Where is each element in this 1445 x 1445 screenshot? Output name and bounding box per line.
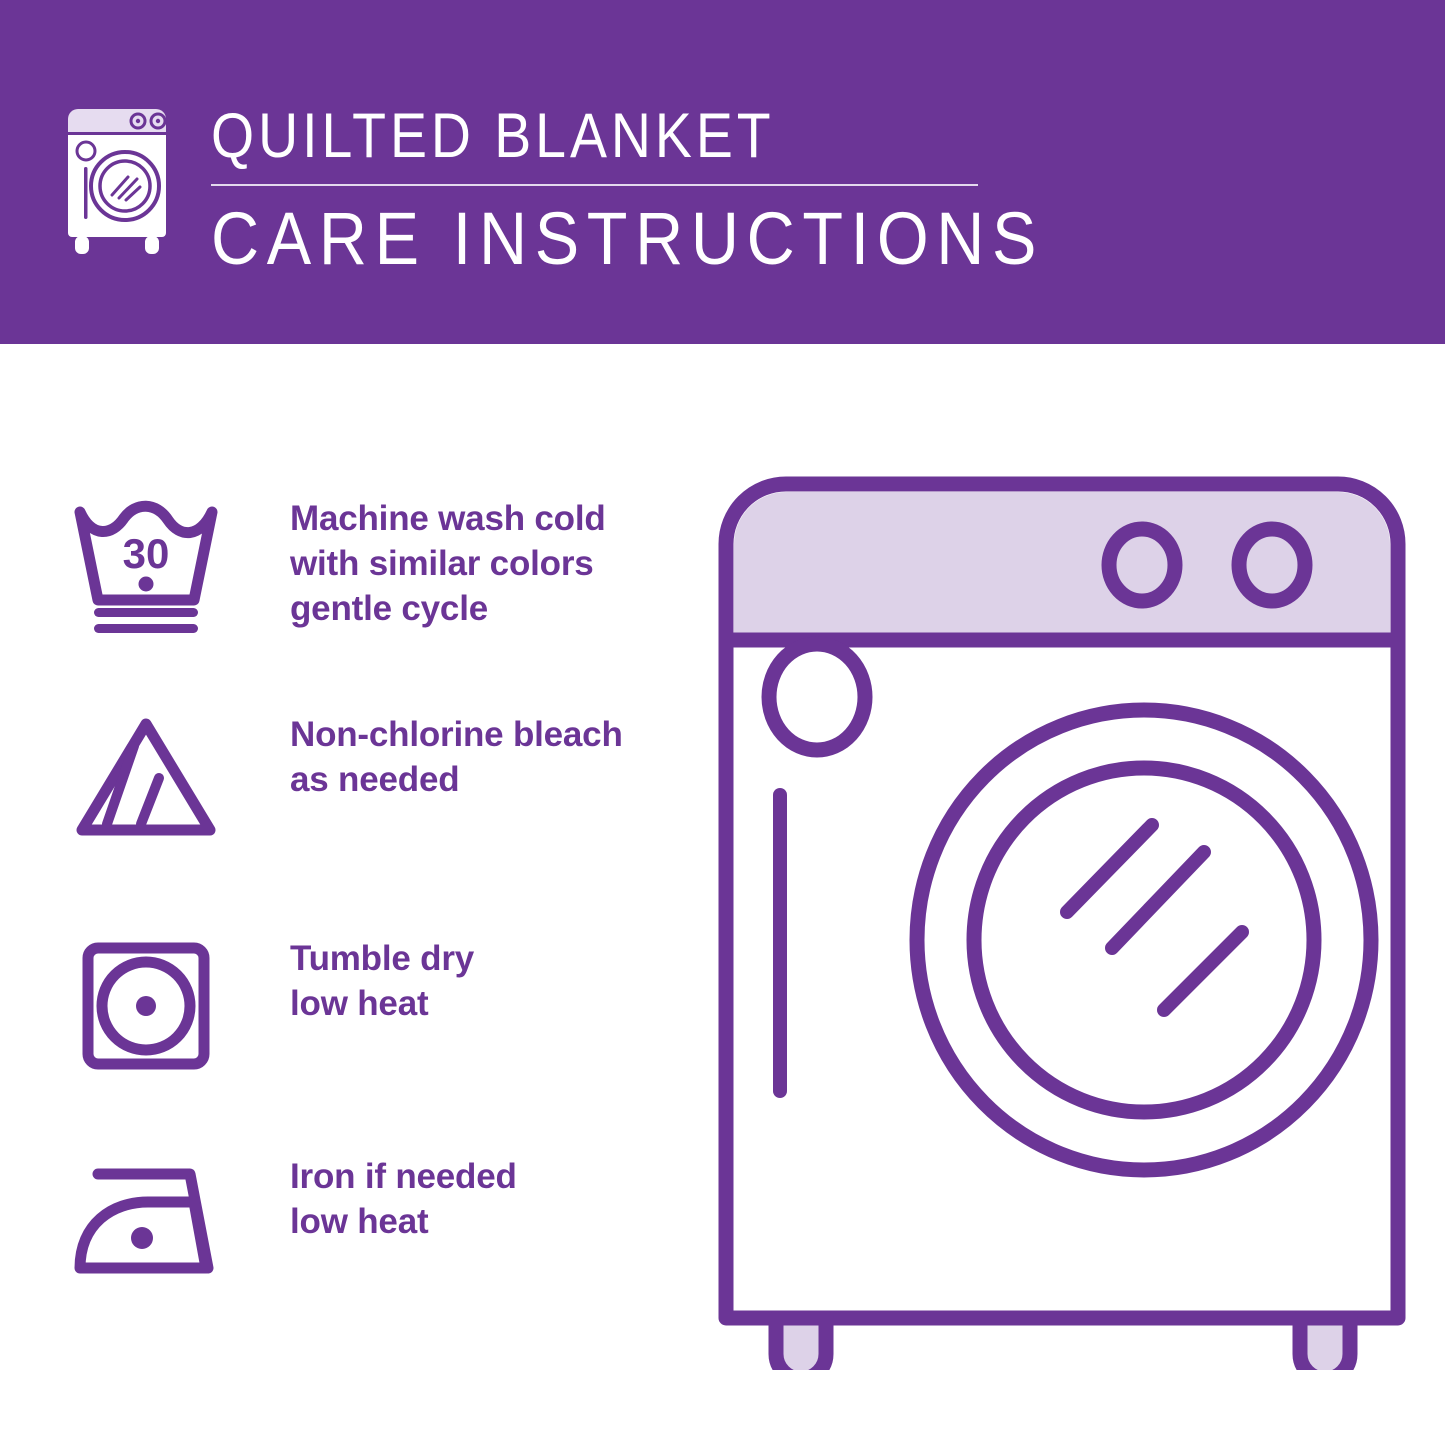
dry-symbol-wrapper	[66, 936, 226, 1076]
page-subtitle: CARE INSTRUCTIONS	[211, 198, 922, 280]
tumble-dry-low-icon	[66, 936, 226, 1076]
iron-heat-dot	[131, 1227, 153, 1249]
instruction-row-tumble-dry: Tumble dry low heat	[66, 936, 474, 1076]
instructions-list: 30 Machine wash cold with similar colors…	[0, 344, 700, 1445]
care-instructions-infographic: QUILTED BLANKET CARE INSTRUCTIONS 30	[0, 0, 1445, 1445]
washing-machine-icon	[62, 103, 184, 255]
title-divider	[211, 184, 978, 186]
instruction-text-bleach: Non-chlorine bleach as needed	[226, 712, 623, 802]
bleach-symbol-wrapper	[66, 712, 226, 844]
dry-heat-dot	[136, 996, 156, 1016]
instruction-text-iron: Iron if needed low heat	[226, 1154, 517, 1244]
page-title: QUILTED BLANKET	[211, 100, 906, 172]
iron-low-heat-icon	[66, 1154, 226, 1286]
instruction-text-tumble-dry: Tumble dry low heat	[226, 936, 474, 1026]
leg-left	[776, 1318, 826, 1370]
vertical-slot	[773, 788, 787, 1098]
header-banner: QUILTED BLANKET CARE INSTRUCTIONS	[0, 0, 1445, 344]
header-text-block: QUILTED BLANKET CARE INSTRUCTIONS	[211, 100, 1001, 280]
instruction-row-wash: 30 Machine wash cold with similar colors…	[66, 496, 606, 636]
wash-symbol-wrapper: 30	[66, 496, 226, 636]
wash-temperature-label: 30	[123, 530, 170, 577]
instruction-row-iron: Iron if needed low heat	[66, 1154, 517, 1286]
large-washing-machine-illustration	[712, 470, 1412, 1370]
iron-symbol-wrapper	[66, 1154, 226, 1286]
non-chlorine-bleach-triangle-icon	[66, 712, 226, 844]
wash-dot	[139, 577, 154, 592]
leg-right	[1300, 1318, 1350, 1370]
wash-tub-30-gentle-icon: 30	[66, 496, 226, 636]
instruction-text-wash: Machine wash cold with similar colors ge…	[226, 496, 606, 631]
instruction-row-bleach: Non-chlorine bleach as needed	[66, 712, 623, 844]
control-panel	[734, 492, 1390, 640]
